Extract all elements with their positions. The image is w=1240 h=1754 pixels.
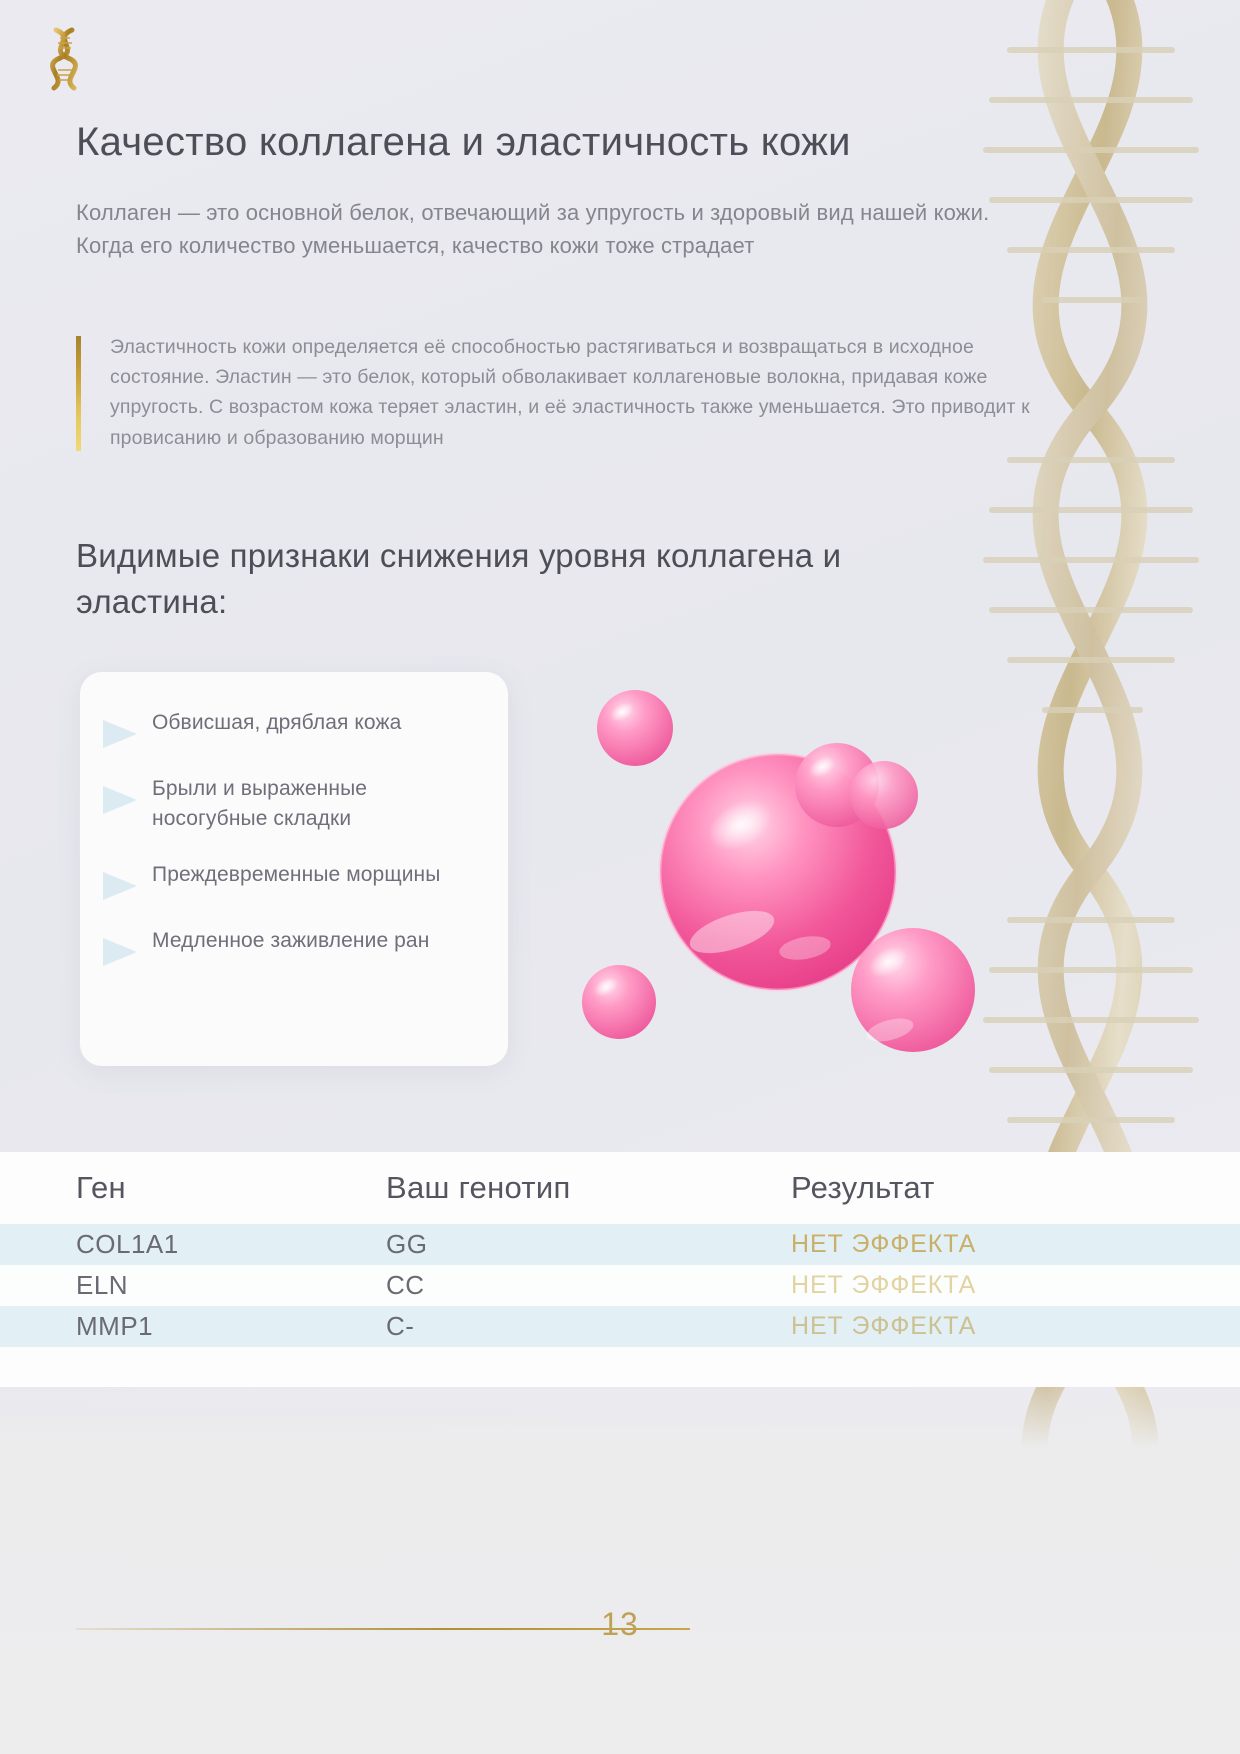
column-header-result: Результат (791, 1170, 1164, 1206)
list-item: Преждевременные морщины (98, 860, 482, 900)
column-header-gene: Ген (76, 1170, 386, 1206)
table-bottom-band (0, 1347, 1240, 1387)
cell-genotype: C- (386, 1311, 791, 1342)
genotype-table: Ген Ваш генотип Результат COL1A1 GG НЕТ … (0, 1152, 1240, 1387)
list-item-label: Преждевременные морщины (152, 860, 440, 890)
list-item-label: Обвисшая, дряблая кожа (152, 708, 401, 738)
signs-card: Обвисшая, дряблая кожа Брыли и выраженны… (80, 672, 508, 1066)
page-number: 13 (0, 1606, 1240, 1643)
cell-genotype: CC (386, 1270, 791, 1301)
triangle-right-icon (98, 786, 142, 814)
triangle-right-icon (98, 938, 142, 966)
table-row: ELN CC НЕТ ЭФФЕКТА (0, 1265, 1240, 1306)
cell-result: НЕТ ЭФФЕКТА (791, 1271, 1164, 1300)
cell-result: НЕТ ЭФФЕКТА (791, 1312, 1164, 1341)
list-item: Брыли и выраженные носогубные складки (98, 774, 482, 834)
column-header-genotype: Ваш генотип (386, 1170, 791, 1206)
triangle-right-icon (98, 720, 142, 748)
page-title: Качество коллагена и эластичность кожи (76, 118, 1076, 166)
table-row: COL1A1 GG НЕТ ЭФФЕКТА (0, 1224, 1240, 1265)
intro-paragraph: Коллаген — это основной белок, отвечающи… (76, 196, 996, 263)
list-item-label: Брыли и выраженные носогубные складки (152, 774, 452, 834)
cell-result: НЕТ ЭФФЕКТА (791, 1230, 1164, 1259)
cell-gene: COL1A1 (76, 1229, 386, 1260)
list-item: Обвисшая, дряблая кожа (98, 708, 482, 748)
dna-helix-logo-icon (38, 24, 94, 94)
report-page: Качество коллагена и эластичность кожи К… (0, 0, 1240, 1754)
page-bottom-fade (0, 1380, 1240, 1754)
table-row: MMP1 C- НЕТ ЭФФЕКТА (0, 1306, 1240, 1347)
cell-genotype: GG (386, 1229, 791, 1260)
cell-gene: ELN (76, 1270, 386, 1301)
signs-subtitle: Видимые признаки снижения уровня коллаге… (76, 533, 936, 624)
list-item: Медленное заживление ран (98, 926, 482, 966)
table-header-row: Ген Ваш генотип Результат (0, 1152, 1240, 1224)
cell-gene: MMP1 (76, 1311, 386, 1342)
pink-collagen-bubbles-illustration (560, 660, 1030, 1090)
triangle-right-icon (98, 872, 142, 900)
quote-block: Эластичность кожи определяется её способ… (76, 332, 1036, 453)
list-item-label: Медленное заживление ран (152, 926, 429, 956)
